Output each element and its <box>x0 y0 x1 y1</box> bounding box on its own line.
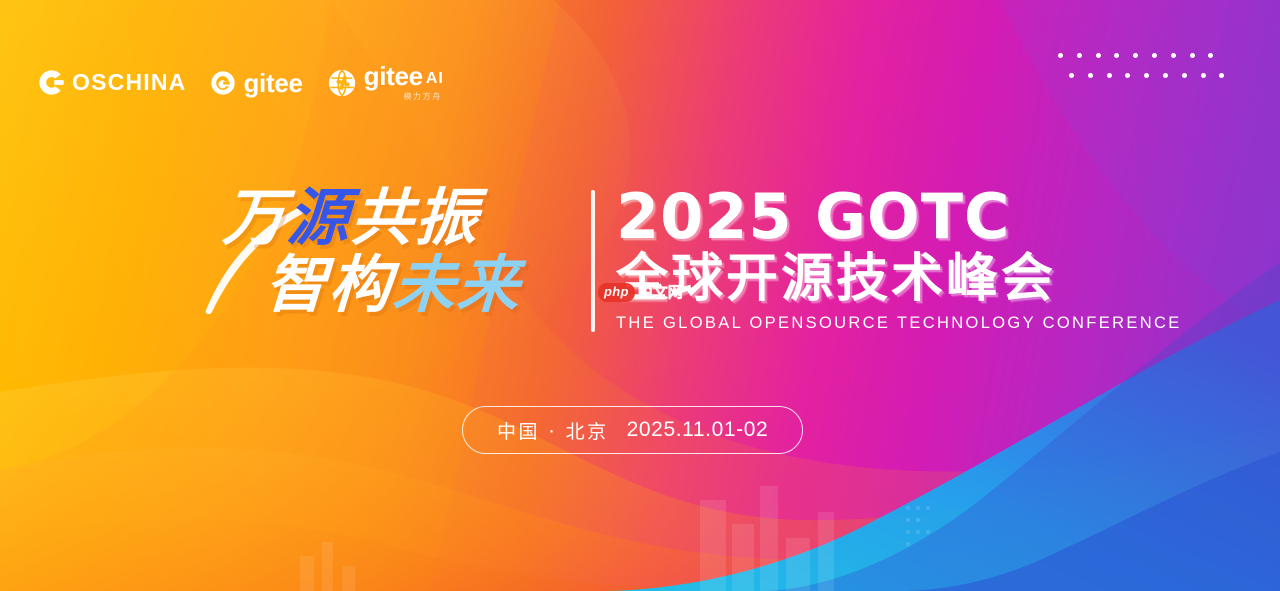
event-title-block: 2025 GOTC 全球开源技术峰会 THE GLOBAL OPENSOURCE… <box>616 186 1182 333</box>
slogan-line-1: 万源共振 <box>203 188 586 249</box>
gitee-label: gitee <box>243 70 302 96</box>
dot <box>1144 73 1149 78</box>
slogan-seg: 共振 <box>349 181 481 254</box>
event-location: 中国 · 北京 <box>497 417 609 444</box>
dot <box>1114 53 1119 58</box>
dot <box>1163 73 1168 78</box>
dot <box>1058 53 1063 58</box>
event-main-title: 2025 GOTC <box>616 186 1182 248</box>
dot <box>1133 53 1138 58</box>
dot <box>1107 73 1112 78</box>
gitee-ai-suffix: AI <box>426 70 444 88</box>
dot <box>1201 73 1206 78</box>
decorative-dot-grid <box>1058 50 1224 81</box>
site-watermark: php 中文网 <box>598 283 683 302</box>
event-date: 2025.11.01-02 <box>627 418 769 442</box>
gitee-g-mark <box>210 70 236 96</box>
logo-gitee[interactable]: gitee <box>210 70 302 96</box>
dot <box>1088 73 1093 78</box>
dot <box>1219 73 1224 78</box>
oschina-label: OSCHINA <box>72 71 186 94</box>
slogan-seg: 智构 <box>263 248 395 321</box>
watermark-badge: php <box>598 283 635 302</box>
dot <box>1182 73 1187 78</box>
gitee-ai-textblock: gitee AI 模力方舟 <box>364 63 444 102</box>
dot <box>1152 53 1157 58</box>
logo-gitee-ai[interactable]: gitee AI 模力方舟 <box>327 63 444 102</box>
slogan-block: 万源共振 智构未来 <box>205 188 585 316</box>
gitee-ai-tagline: 模力方舟 <box>403 91 443 102</box>
vertical-divider <box>591 190 595 332</box>
slogan-seg-accent: 源 <box>285 181 353 254</box>
dot-row-1 <box>1058 50 1224 61</box>
dot-row-2 <box>1069 70 1224 81</box>
watermark-text: 中文网 <box>638 284 683 301</box>
logo-oschina[interactable]: OSCHINA <box>38 69 186 96</box>
dot <box>1096 53 1101 58</box>
event-date-pill: 中国 · 北京 2025.11.01-02 <box>462 406 803 454</box>
logo-row: OSCHINA gitee <box>38 63 444 102</box>
gitee-ai-label: gitee <box>364 63 423 89</box>
dot <box>1171 53 1176 58</box>
event-chinese-title: 全球开源技术峰会 <box>616 252 1182 307</box>
gitee-ai-globe-mark <box>327 68 357 98</box>
dot <box>1069 73 1074 78</box>
dot <box>1190 53 1195 58</box>
slogan-line-2: 智构未来 <box>203 255 586 316</box>
oschina-c-mark <box>38 69 65 96</box>
conference-banner: OSCHINA gitee <box>0 0 1280 591</box>
slogan-seg: 万 <box>221 181 289 254</box>
dot <box>1077 53 1082 58</box>
dot <box>1125 73 1130 78</box>
event-english-subtitle: THE GLOBAL OPENSOURCE TECHNOLOGY CONFERE… <box>616 314 1182 333</box>
dot <box>1208 53 1213 58</box>
slogan-seg-accent: 未来 <box>391 248 523 321</box>
